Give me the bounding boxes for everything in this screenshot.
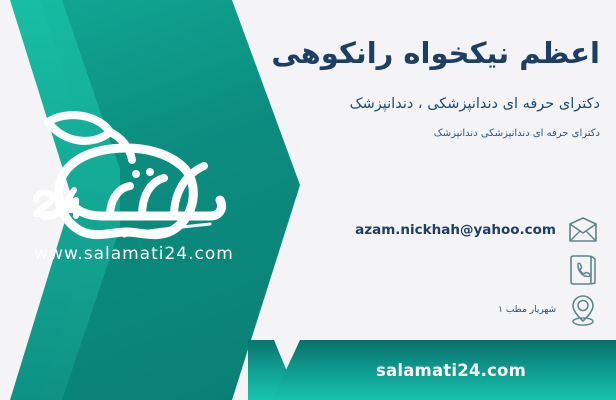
- business-card: www.salamati24.com اعظم نیکخواه رانکوهی …: [0, 0, 616, 400]
- contact-row-phone[interactable]: [300, 250, 600, 290]
- person-title: دکترای حرفه ای دندانپزشکی ، دندانپزشک: [350, 96, 600, 112]
- contact-list: azam.nickhah@yahoo.com: [300, 210, 600, 330]
- contact-row-email[interactable]: azam.nickhah@yahoo.com: [300, 210, 600, 250]
- footer-website[interactable]: salamati24.com: [272, 340, 616, 400]
- phone-book-icon: [566, 253, 600, 287]
- person-specialty: دکترای حرفه ای دندانپزشکی دندانپزشک: [434, 128, 600, 139]
- location-pin-icon: [566, 293, 600, 327]
- logo-website-url: www.salamati24.com: [14, 244, 254, 264]
- footer-bar: salamati24.com: [272, 340, 616, 400]
- envelope-icon: [566, 213, 600, 247]
- address-text: شهریار مطب ۱: [498, 305, 556, 315]
- person-name: اعظم نیکخواه رانکوهی: [271, 36, 600, 70]
- salamati24-logo: www.salamati24.com: [14, 104, 254, 284]
- contact-row-address[interactable]: شهریار مطب ۱: [300, 290, 600, 330]
- email-text: azam.nickhah@yahoo.com: [355, 222, 556, 238]
